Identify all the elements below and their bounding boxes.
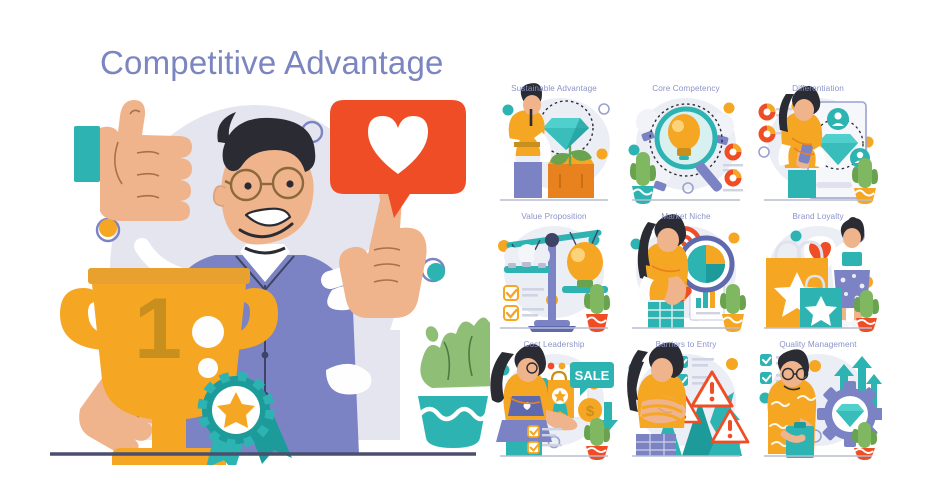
coin-dot: [726, 358, 738, 370]
card-brand-loyalty[interactable]: Brand Loyalty: [754, 210, 882, 338]
card-quality-management[interactable]: Quality Management: [754, 338, 882, 466]
card-market-niche[interactable]: Market Niche: [622, 210, 750, 338]
teal-dot: [791, 231, 802, 242]
card-sustainable-advantage[interactable]: Sustainable Advantage: [490, 82, 618, 210]
coin-dot: [809, 360, 821, 372]
donut-chart: [723, 170, 743, 192]
hero-illustration: 1: [40, 80, 490, 465]
outline-dot: [599, 104, 609, 114]
sale-tag-text: SALE: [575, 368, 610, 383]
woman-with-magnifier: [638, 214, 688, 328]
trophy-rank-number: 1: [134, 281, 182, 377]
concept-card-grid: Sustainable Advantage: [490, 82, 890, 467]
card-cost-leadership[interactable]: SALE % $: [490, 338, 618, 466]
outline-dot: [759, 147, 769, 157]
user-avatar: [827, 108, 849, 130]
page-title: Competitive Advantage: [100, 44, 444, 82]
card-core-competency[interactable]: Core Competency: [622, 82, 750, 210]
card-differentiation[interactable]: Differentiation: [754, 82, 882, 210]
infographic-canvas: Competitive Advantage: [0, 0, 937, 500]
teal-dot: [629, 145, 640, 156]
coin-dot: [597, 149, 608, 160]
cardboard-box: [548, 164, 594, 198]
coin-dot: [724, 103, 735, 114]
man-with-clipboard: [767, 349, 816, 458]
pie-chart: [687, 245, 725, 283]
card-value-proposition[interactable]: Value Proposition: [490, 210, 618, 338]
potted-plant: [418, 317, 490, 448]
svg-text:$: $: [586, 403, 595, 420]
teal-dot: [503, 105, 514, 116]
coin-dot: [729, 233, 740, 244]
card-barriers-to-entry[interactable]: Barriers to Entry: [622, 338, 750, 466]
